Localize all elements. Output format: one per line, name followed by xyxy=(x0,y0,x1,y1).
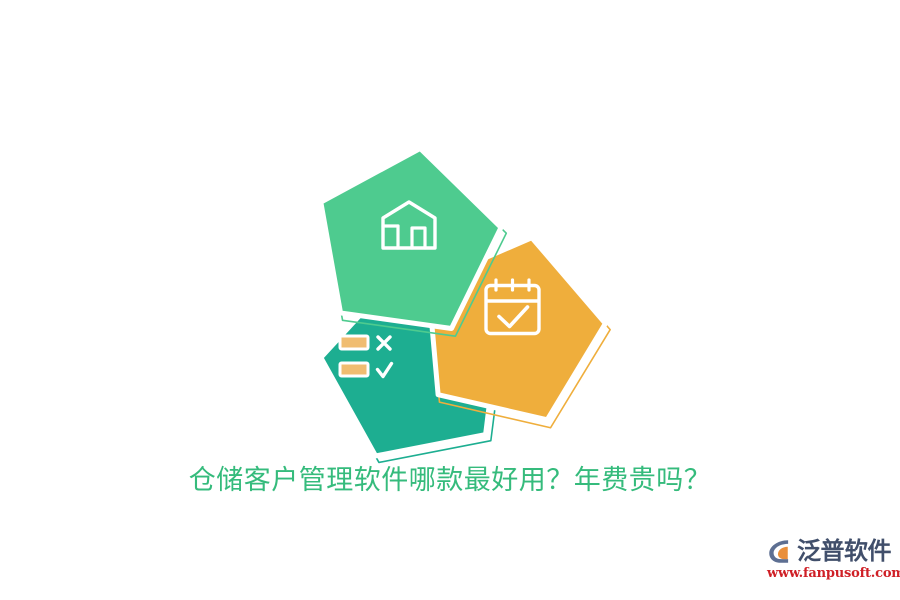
brand-name: 泛普软件 xyxy=(797,538,891,564)
fanpu-swoosh-logo-icon xyxy=(766,537,795,566)
page-title: 仓储客户管理软件哪款最好用？年费贵吗？ xyxy=(0,463,900,499)
brand-url: www.fanpusoft.com xyxy=(767,567,894,581)
pentagon-cluster-graphic xyxy=(270,140,610,470)
brand-logo-row: 泛普软件 xyxy=(766,536,894,566)
brand-logo[interactable]: 泛普软件 www.fanpusoft.com xyxy=(766,536,894,582)
poster-canvas: 仓储客户管理软件哪款最好用？年费贵吗？ 泛普软件 www.fanpusoft.c… xyxy=(0,0,900,600)
